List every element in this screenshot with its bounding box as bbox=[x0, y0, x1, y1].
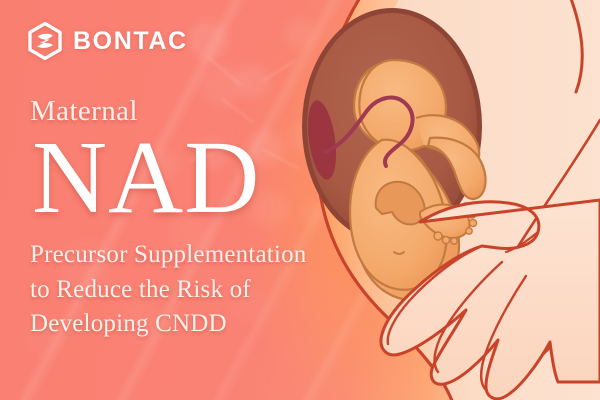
subhead-line-2: to Reduce the Risk of bbox=[30, 273, 375, 308]
brand-name: BONTAC bbox=[73, 29, 188, 54]
poster-canvas: BONTAC Maternal NAD Precursor Supplement… bbox=[0, 0, 600, 400]
headline-subhead: Precursor Supplementation to Reduce the … bbox=[30, 238, 375, 342]
headline-block: Maternal NAD Precursor Supplementation t… bbox=[30, 96, 375, 342]
bontac-hexagon-logo-icon bbox=[26, 22, 64, 60]
brand-logo[interactable]: BONTAC bbox=[26, 22, 188, 60]
headline-big-word: NAD bbox=[32, 128, 375, 228]
subhead-line-3: Developing CNDD bbox=[30, 307, 375, 342]
subhead-line-1: Precursor Supplementation bbox=[30, 238, 375, 273]
